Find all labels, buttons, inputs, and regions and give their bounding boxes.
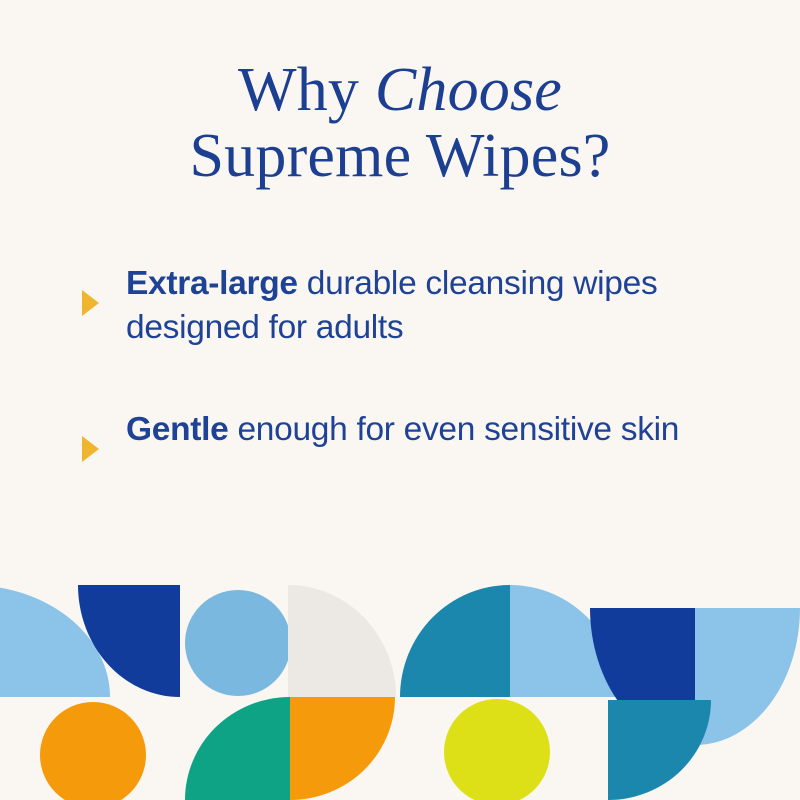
circle-light-blue bbox=[185, 590, 291, 696]
quarter-circle-grey bbox=[288, 585, 396, 697]
quarter-circle-green-leaf-left bbox=[185, 697, 290, 800]
headline-word-why: Why bbox=[238, 56, 375, 124]
quarter-circle-navy-dome-left bbox=[590, 608, 695, 745]
circle-orange bbox=[40, 702, 146, 800]
list-item: Gentle enough for even sensitive skin bbox=[82, 408, 742, 460]
quarter-circle-orange-leaf-right bbox=[290, 697, 395, 800]
list-item: Extra-large durable cleansing wipes desi… bbox=[82, 262, 742, 350]
headline-line-1: Why Choose bbox=[0, 58, 800, 124]
circle-lime bbox=[444, 699, 550, 800]
list-item-emphasis: Gentle bbox=[126, 411, 228, 448]
list-item-body: enough for even sensitive skin bbox=[228, 411, 679, 448]
quarter-circle-skyblue-dome-right bbox=[510, 585, 620, 697]
quarter-circle-light-blue-top-left bbox=[0, 585, 110, 697]
list-item-text: Gentle enough for even sensitive skin bbox=[126, 408, 679, 452]
promo-graphic: Why Choose Supreme Wipes? Extra-large du… bbox=[0, 0, 800, 800]
quarter-circle-teal-dome-left bbox=[400, 585, 510, 697]
quarter-circle-skyblue-dome-right-2 bbox=[695, 608, 800, 745]
square-navy-round-bottom bbox=[78, 585, 180, 697]
headline-line-2: Supreme Wipes? bbox=[0, 124, 800, 190]
page-title: Why Choose Supreme Wipes? bbox=[0, 58, 800, 189]
benefit-list: Extra-large durable cleansing wipes desi… bbox=[82, 262, 742, 518]
quarter-circle-teal-bottom bbox=[608, 700, 711, 800]
list-item-text: Extra-large durable cleansing wipes desi… bbox=[126, 262, 726, 350]
triangle-right-icon bbox=[82, 290, 100, 314]
triangle-right-icon bbox=[82, 436, 100, 460]
list-item-emphasis: Extra-large bbox=[126, 265, 298, 302]
headline-word-choose: Choose bbox=[375, 56, 562, 124]
